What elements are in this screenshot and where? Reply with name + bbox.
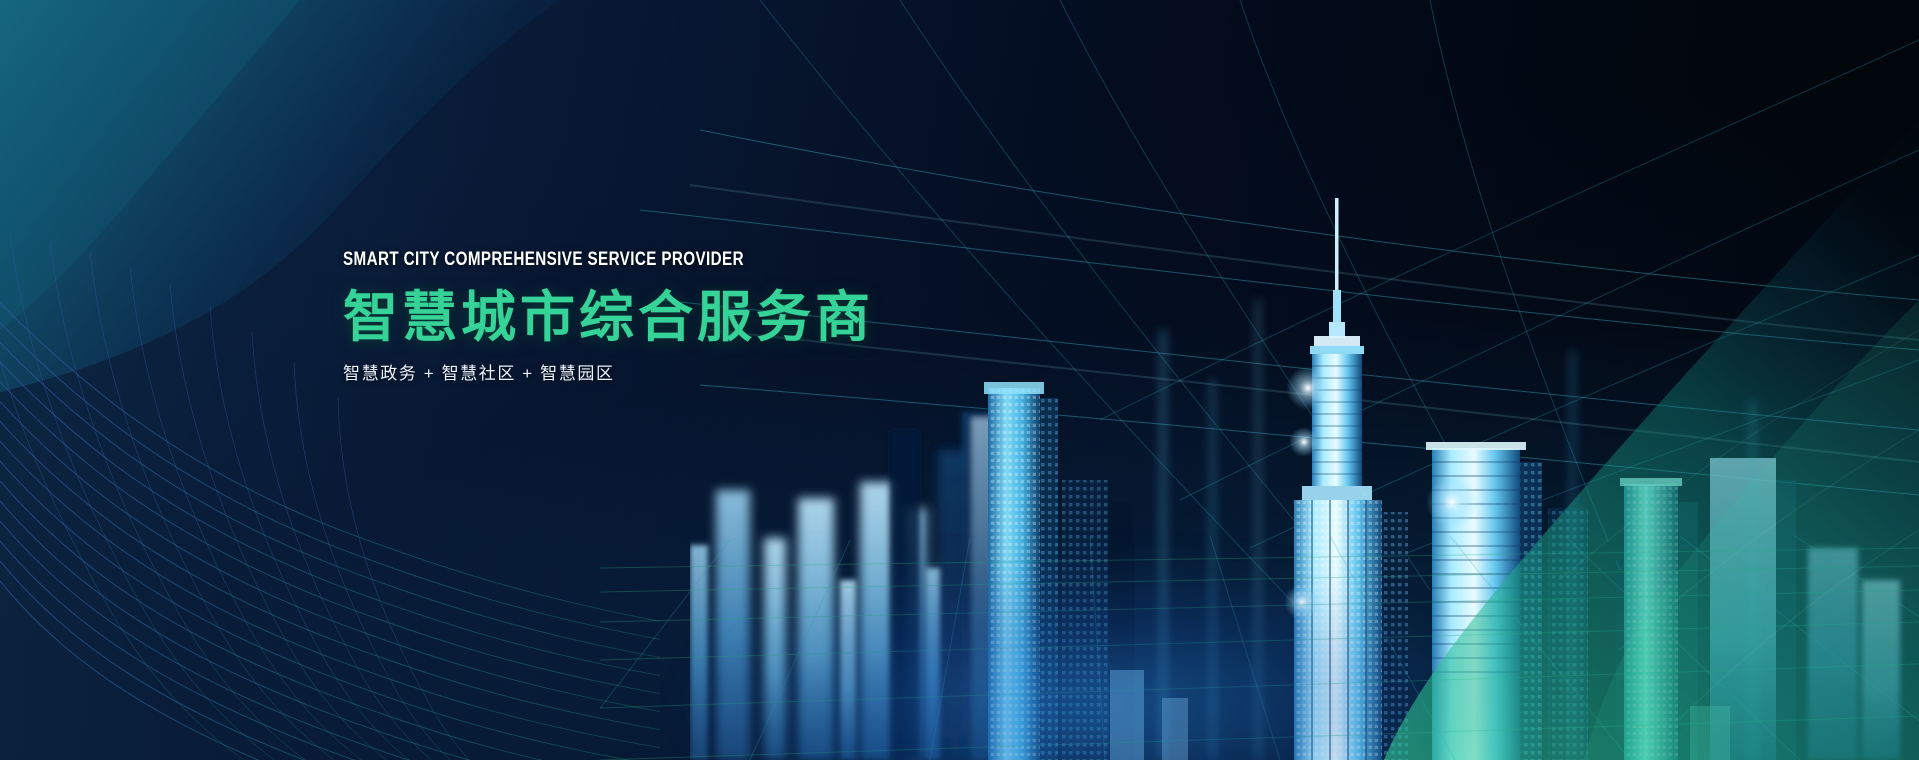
hero-copy-block: SMART CITY COMPREHENSIVE SERVICE PROVIDE… (343, 250, 1103, 382)
perspective-grid-floor (600, 530, 1919, 760)
hero-headline: 智慧城市综合服务商 (343, 288, 1103, 347)
hero-subline: 智慧政务 + 智慧社区 + 智慧园区 (343, 365, 1103, 382)
hero-banner: SMART CITY COMPREHENSIVE SERVICE PROVIDE… (0, 0, 1919, 760)
green-corner-overlay (1159, 0, 1919, 760)
city-skyline-illustration (690, 150, 1919, 760)
hero-eyebrow: SMART CITY COMPREHENSIVE SERVICE PROVIDE… (343, 250, 951, 269)
floor-glow (640, 550, 1640, 760)
